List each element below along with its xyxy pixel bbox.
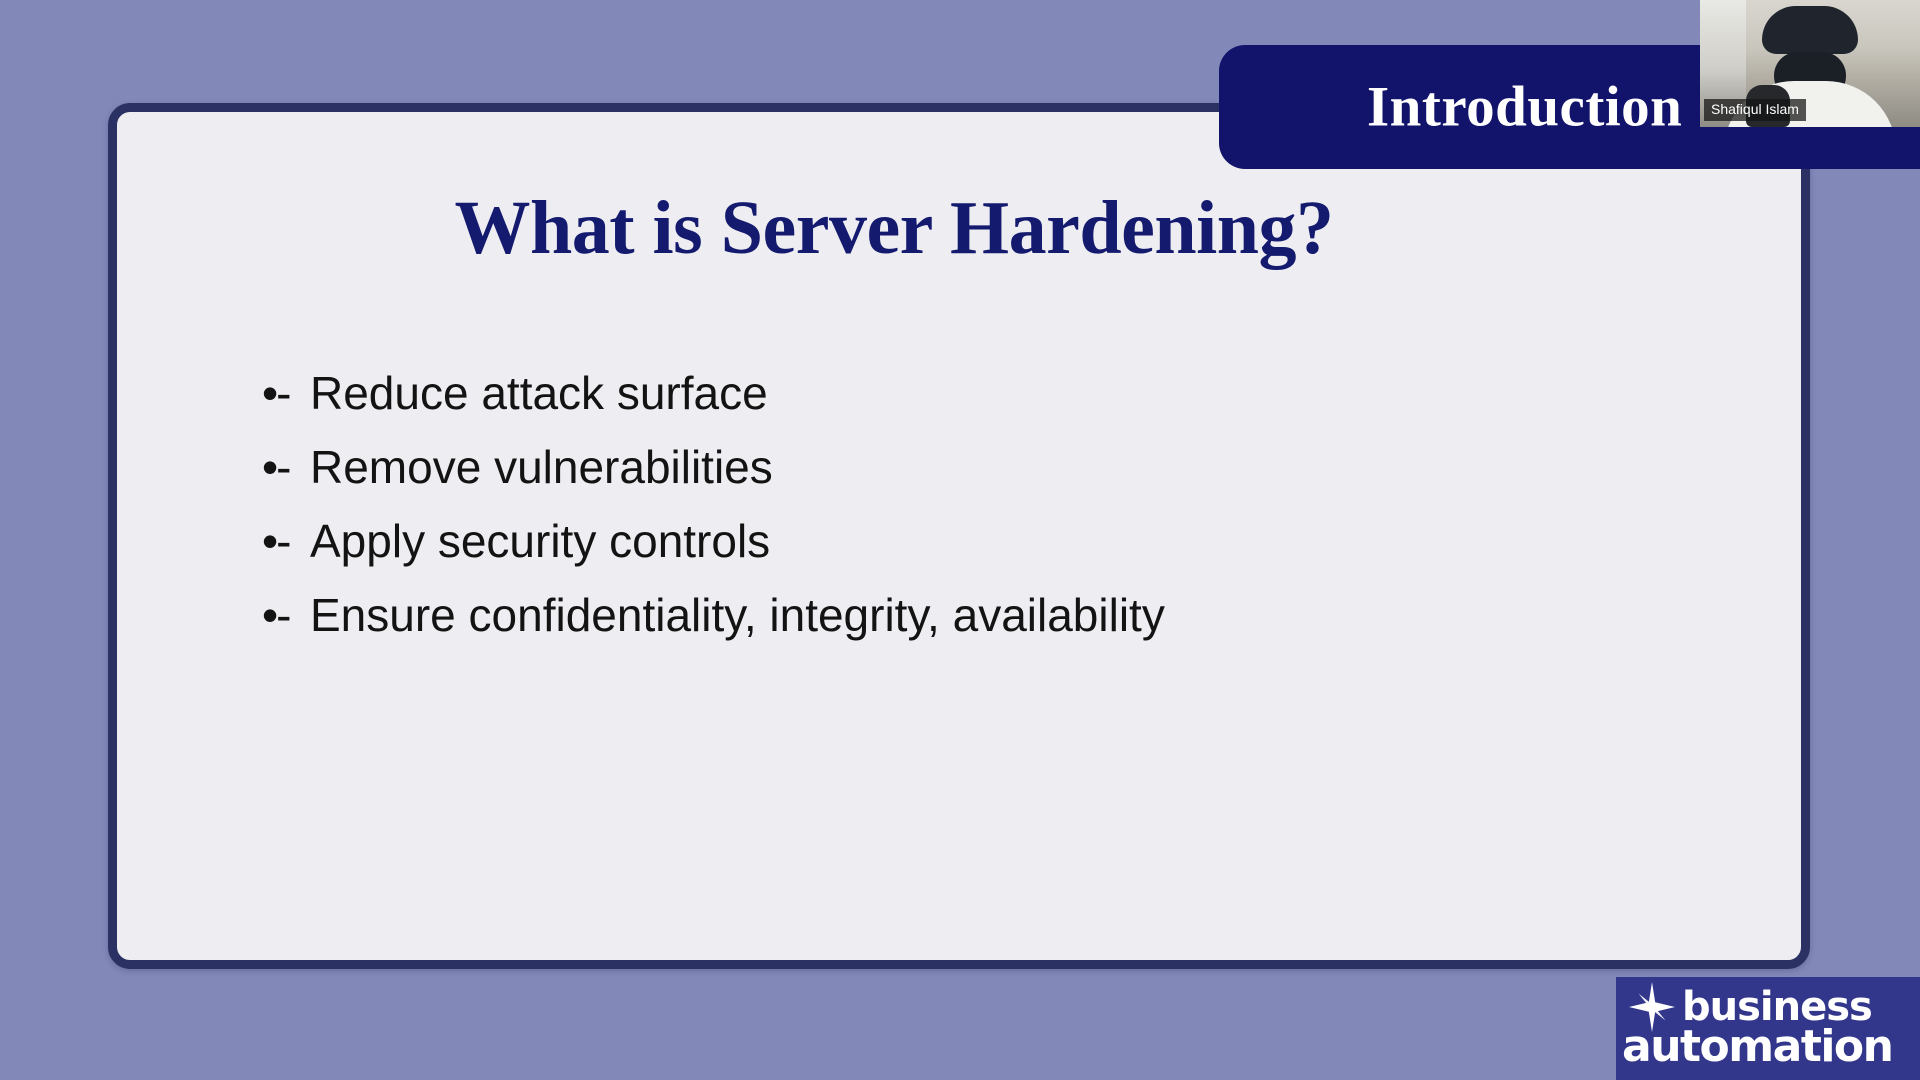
bullet-marker-icon: •- [262, 444, 310, 490]
participant-name-label: Shafiqul Islam [1704, 99, 1806, 122]
webcam-person-hair [1762, 6, 1858, 54]
bullet-marker-icon: •- [262, 592, 310, 638]
bullet-list: •- Reduce attack surface •- Remove vulne… [262, 370, 1761, 666]
slide-card: What is Server Hardening? •- Reduce atta… [108, 103, 1810, 969]
bullet-marker-icon: •- [262, 370, 310, 416]
brand-logo-word-automation: automation [1622, 1025, 1892, 1069]
bullet-marker-icon: •- [262, 518, 310, 564]
section-title-text: Introduction [1367, 75, 1682, 140]
list-item: •- Reduce attack surface [262, 370, 1761, 416]
webcam-overlay[interactable]: Shafiqul Islam [1700, 0, 1920, 127]
slide-heading: What is Server Hardening? [117, 190, 1801, 266]
bullet-text: Remove vulnerabilities [310, 444, 773, 490]
slide-body: What is Server Hardening? •- Reduce atta… [117, 112, 1801, 960]
list-item: •- Remove vulnerabilities [262, 444, 1761, 490]
bullet-text: Apply security controls [310, 518, 770, 564]
presentation-stage: What is Server Hardening? •- Reduce atta… [0, 0, 1920, 1080]
list-item: •- Apply security controls [262, 518, 1761, 564]
list-item: •- Ensure confidentiality, integrity, av… [262, 592, 1761, 638]
bullet-text: Reduce attack surface [310, 370, 768, 416]
brand-logo: business automation [1616, 977, 1920, 1080]
bullet-text: Ensure confidentiality, integrity, avail… [310, 592, 1165, 638]
